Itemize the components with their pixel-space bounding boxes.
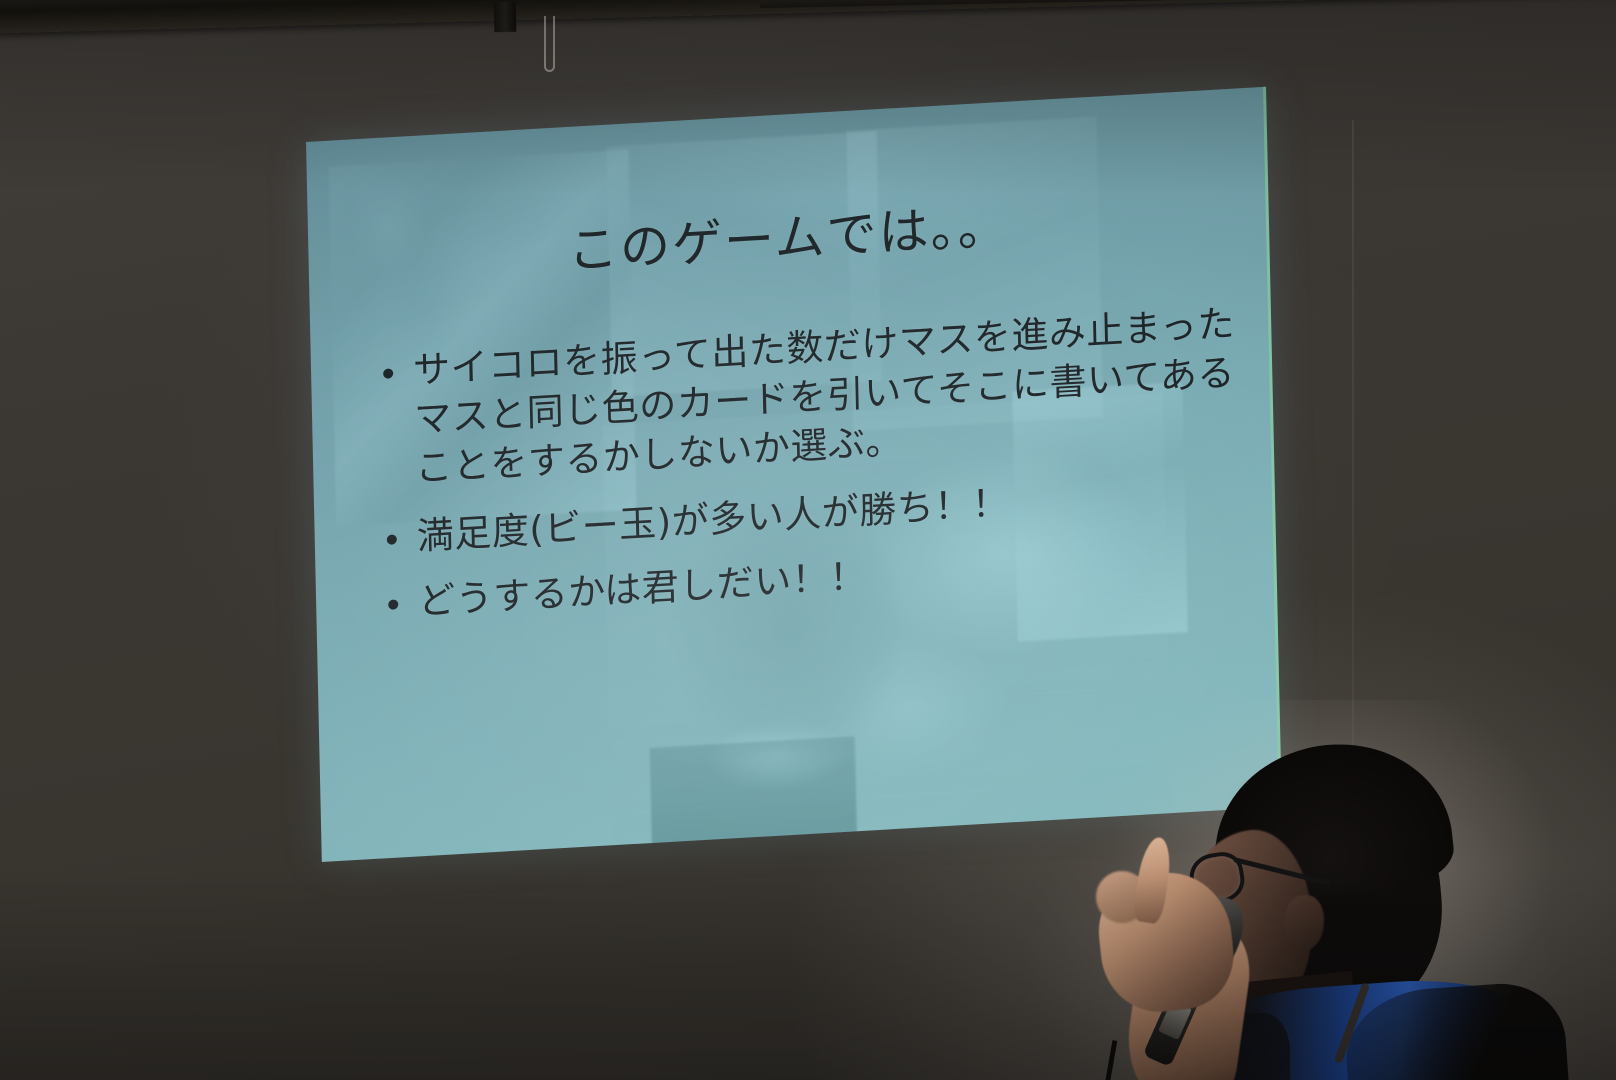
slide-title: このゲームでは。。: [308, 171, 1270, 298]
presenter: [1060, 745, 1616, 1080]
projection-room-scene: このゲームでは。。 サイコロを振って出た数だけマスを進み止まったマスと同じ色のカ…: [0, 0, 1616, 1080]
slide-bullet-list: サイコロを振って出た数だけマスを進み止まったマスと同じ色のカードを引いてそこに書…: [369, 298, 1253, 639]
slide-bullet-item: サイコロを振って出た数だけマスを進み止まったマスと同じ色のカードを引いてそこに書…: [369, 298, 1250, 496]
ceiling-hook-icon: [544, 16, 555, 72]
rail-bracket: [494, 2, 517, 33]
